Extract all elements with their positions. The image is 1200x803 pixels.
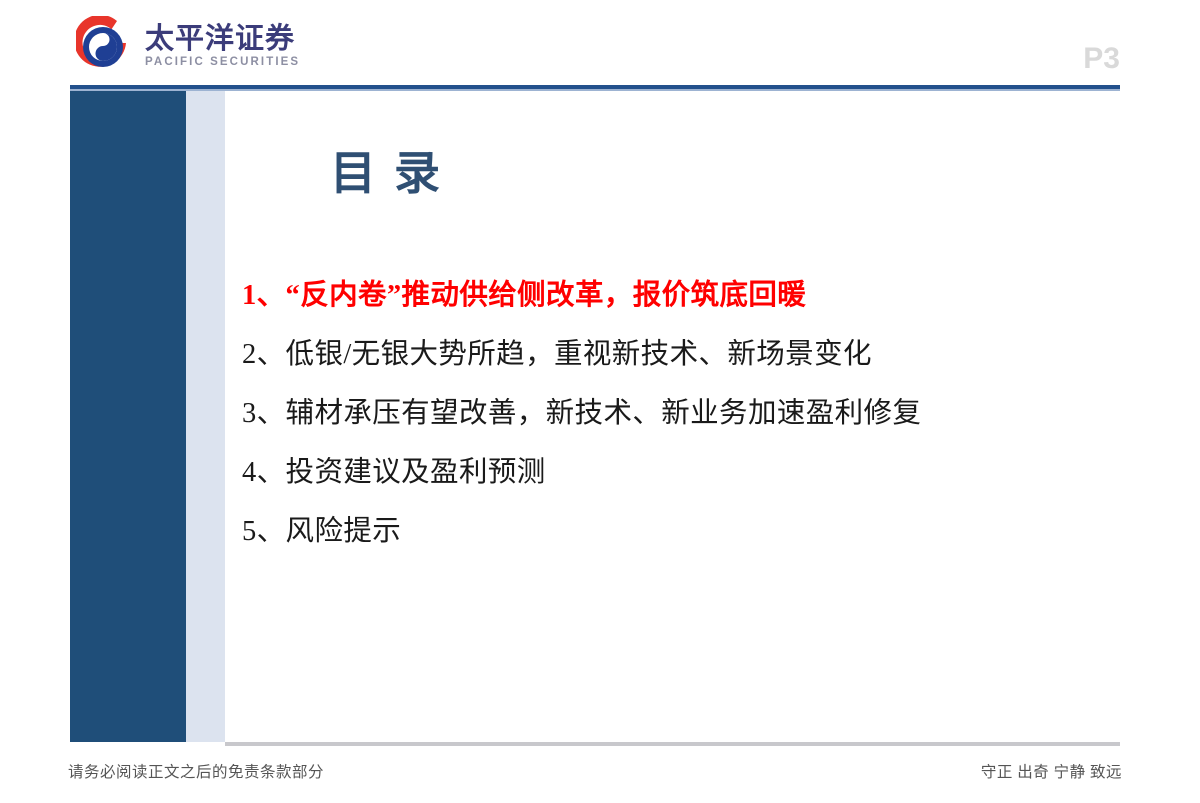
footer-slogan: 守正 出奇 宁静 致远 — [981, 760, 1122, 782]
slide-header: 太平洋证券 PACIFIC SECURITIES P3 — [0, 0, 1200, 88]
page-number: P3 — [1083, 44, 1120, 74]
logo-name-cn: 太平洋证券 — [145, 24, 300, 54]
footer-disclaimer: 请务必阅读正文之后的免责条款部分 — [68, 760, 324, 782]
toc-item-4[interactable]: 4、投资建议及盈利预测 — [242, 443, 1112, 502]
toc-item-1[interactable]: 1、“反内卷”推动供给侧改革，报价筑底回暖 — [242, 266, 1112, 325]
slide-content: 目录 1、“反内卷”推动供给侧改革，报价筑底回暖 2、低银/无银大势所趋，重视新… — [225, 91, 1120, 742]
sidebar-accent-dark — [70, 91, 186, 742]
slide-footer: 请务必阅读正文之后的免责条款部分 守正 出奇 宁静 致远 — [0, 752, 1200, 792]
toc-item-3[interactable]: 3、辅材承压有望改善，新技术、新业务加速盈利修复 — [242, 384, 1112, 443]
toc-item-2[interactable]: 2、低银/无银大势所趋，重视新技术、新场景变化 — [242, 325, 1112, 384]
toc-item-5[interactable]: 5、风险提示 — [242, 502, 1112, 561]
pacific-securities-logo-icon — [76, 16, 136, 76]
sidebar-accent-light — [186, 91, 225, 742]
company-logo: 太平洋证券 PACIFIC SECURITIES — [76, 16, 300, 76]
footer-rule — [225, 742, 1120, 746]
table-of-contents-list: 1、“反内卷”推动供给侧改革，报价筑底回暖 2、低银/无银大势所趋，重视新技术、… — [242, 266, 1112, 561]
logo-wordmark: 太平洋证券 PACIFIC SECURITIES — [145, 22, 300, 70]
logo-name-en: PACIFIC SECURITIES — [145, 55, 300, 70]
page-title: 目录 — [330, 151, 458, 197]
